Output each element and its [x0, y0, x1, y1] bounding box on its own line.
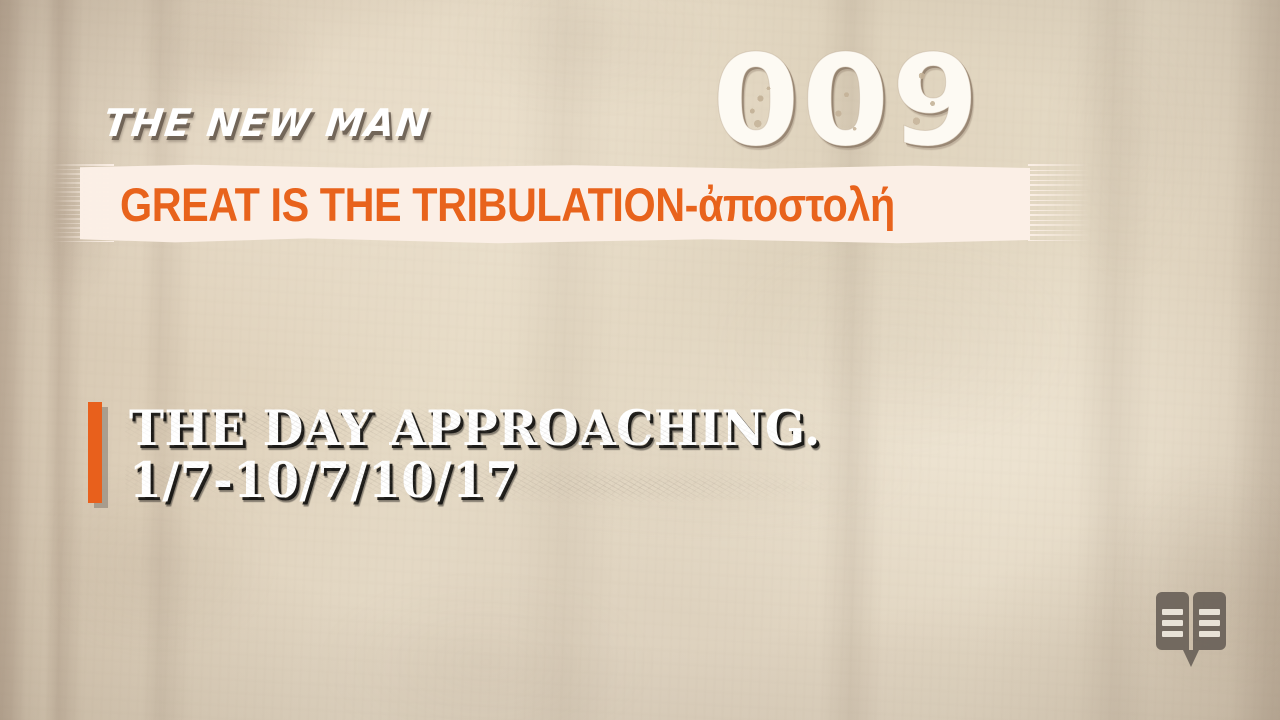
headline-line-1: THE DAY APPROACHING. — [129, 402, 821, 454]
headline-line-1-text: THE DAY APPROACHING. — [129, 399, 821, 457]
presentation-slide: 009 THE NEW MAN GREAT IS THE TRIBULATION… — [0, 0, 1280, 720]
open-book-icon — [1156, 592, 1226, 668]
headline-line-2-text: 1/7-10/7/10/17 — [129, 451, 519, 509]
episode-number: 009 — [712, 38, 981, 164]
open-book-logo — [1156, 592, 1226, 668]
series-kicker: THE NEW MAN — [101, 101, 432, 145]
accent-bar — [88, 402, 102, 503]
headline-text-group: THE DAY APPROACHING. 1/7-10/7/10/17 — [129, 402, 850, 506]
subtitle-text: GREAT IS THE TRIBULATION-ἀποστολή — [120, 171, 895, 237]
headline-block: THE DAY APPROACHING. 1/7-10/7/10/17 — [88, 402, 850, 506]
headline-line-2: 1/7-10/7/10/17 — [129, 454, 821, 506]
subtitle-banner: GREAT IS THE TRIBULATION-ἀποστολή — [52, 158, 1057, 250]
episode-number-text: 009 — [712, 27, 981, 174]
